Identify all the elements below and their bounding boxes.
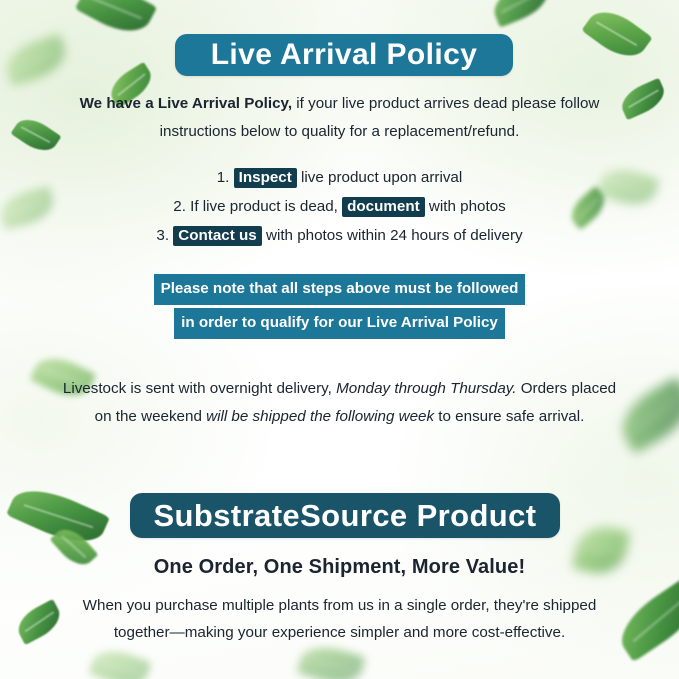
live-arrival-policy-banner: Live Arrival Policy [175, 34, 513, 76]
ship-line1-plain: Livestock is sent with overnight deliver… [63, 380, 336, 397]
ship-line1-italic: Monday through Thursday. [336, 380, 516, 397]
status-badge: Inspect [234, 168, 297, 188]
status-badge: Contact us [173, 226, 261, 246]
note-line-2: in order to qualify for our Live Arrival… [174, 308, 505, 339]
step-text-after: with photos [425, 198, 506, 215]
step-text-after: live product upon arrival [297, 169, 462, 186]
step-number: 2. [173, 198, 186, 215]
intro-paragraph: We have a Live Arrival Policy, if your l… [60, 90, 619, 146]
ship-line3-plain: to ensure safe arrival. [434, 408, 584, 425]
list-item: 3. Contact us with photos within 24 hour… [60, 221, 619, 250]
step-text-after: with photos within 24 hours of delivery [262, 227, 523, 244]
list-item: 2. If live product is dead, document wit… [60, 192, 619, 221]
shipping-paragraph: Livestock is sent with overnight deliver… [60, 375, 619, 431]
policy-steps-list: 1. Inspect live product upon arrival 2. … [60, 163, 619, 250]
product-tagline: One Order, One Shipment, More Value! [60, 556, 619, 579]
substratesource-product-banner: SubstrateSource Product [130, 493, 560, 538]
content-root: Live Arrival Policy We have a Live Arriv… [0, 0, 679, 679]
intro-lead-bold: We have a Live Arrival Policy, [80, 95, 292, 112]
policy-note-block: Please note that all steps above must be… [60, 274, 619, 342]
note-line-1: Please note that all steps above must be… [154, 274, 526, 305]
step-number: 1. [217, 169, 230, 186]
step-number: 3. [156, 227, 169, 244]
infographic-page: Live Arrival Policy We have a Live Arriv… [0, 0, 679, 679]
ship-line2-italic: will be shipped the following week [206, 408, 434, 425]
step-text-before: If live product is dead, [186, 198, 342, 215]
list-item: 1. Inspect live product upon arrival [60, 163, 619, 192]
product-value-paragraph: When you purchase multiple plants from u… [60, 592, 619, 646]
status-badge: document [342, 197, 425, 217]
